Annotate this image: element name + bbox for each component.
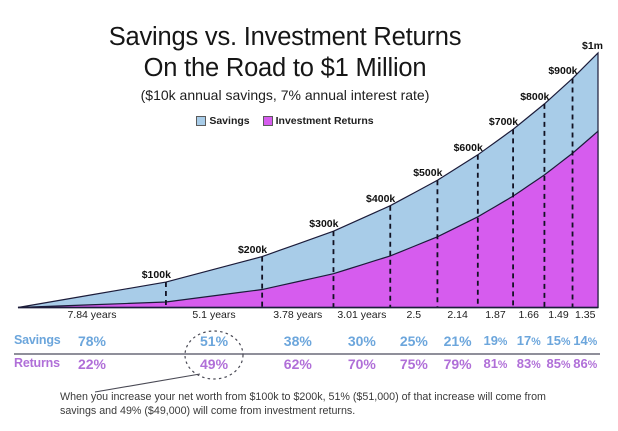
- table-rowlabel-returns: Returns: [14, 356, 60, 370]
- year-label: 1.49: [548, 309, 568, 321]
- year-label: 3.01 years: [337, 309, 386, 321]
- table-cell-savings: 78%: [78, 333, 106, 349]
- chart-value-label: $200k: [238, 244, 267, 256]
- table-cell-savings: 17%: [517, 333, 541, 348]
- table-cell-returns: 83%: [517, 356, 541, 371]
- chart-value-label: $700k: [489, 116, 518, 128]
- callout-caption: When you increase your net worth from $1…: [60, 390, 580, 418]
- chart-value-label: $300k: [309, 218, 338, 230]
- year-label: 1.87: [485, 309, 505, 321]
- chart-value-label: $500k: [413, 167, 442, 179]
- table-cell-returns: 86%: [573, 356, 597, 371]
- table-row-savings: Savings 78%51%38%30%25%21%19%17%15%14%: [0, 331, 618, 354]
- table-cell-returns: 62%: [284, 356, 312, 372]
- table-cell-returns: 79%: [444, 356, 472, 372]
- chart-value-label: $400k: [366, 193, 395, 205]
- year-label: 3.78 years: [273, 309, 322, 321]
- table-rowlabel-savings: Savings: [14, 333, 61, 347]
- table-cell-savings: 19%: [483, 333, 507, 348]
- table-cell-savings: 25%: [400, 333, 428, 349]
- year-label: 1.35: [575, 309, 595, 321]
- chart-areas: [18, 53, 598, 308]
- chart-value-label: $900k: [548, 65, 577, 77]
- year-label: 2.5: [407, 309, 422, 321]
- chart-value-label: $600k: [454, 142, 483, 154]
- chart-value-label: $100k: [142, 269, 171, 281]
- table-cell-savings: 51%: [200, 333, 228, 349]
- chart-value-label: $800k: [520, 91, 549, 103]
- table-cell-returns: 49%: [200, 356, 228, 372]
- table-cell-returns: 75%: [400, 356, 428, 372]
- chart-page: Savings vs. Investment Returns On the Ro…: [0, 0, 618, 431]
- table-cell-returns: 81%: [483, 356, 507, 371]
- table-cell-savings: 14%: [573, 333, 597, 348]
- table-cell-savings: 15%: [546, 333, 570, 348]
- table-cell-returns: 70%: [348, 356, 376, 372]
- year-label: 2.14: [447, 309, 467, 321]
- year-label: 1.66: [519, 309, 539, 321]
- year-label: 7.84 years: [67, 309, 116, 321]
- chart-value-label: $1m: [582, 40, 603, 52]
- year-label-row: 7.84 years5.1 years3.78 years3.01 years2…: [0, 309, 618, 325]
- table-cell-savings: 38%: [284, 333, 312, 349]
- year-label: 5.1 years: [192, 309, 235, 321]
- table-cell-returns: 22%: [78, 356, 106, 372]
- percent-breakdown-table: Savings 78%51%38%30%25%21%19%17%15%14% R…: [0, 331, 618, 379]
- table-cell-savings: 30%: [348, 333, 376, 349]
- table-cell-savings: 21%: [444, 333, 472, 349]
- table-row-returns: Returns 22%49%62%70%75%79%81%83%85%86%: [0, 354, 618, 377]
- table-cell-returns: 85%: [546, 356, 570, 371]
